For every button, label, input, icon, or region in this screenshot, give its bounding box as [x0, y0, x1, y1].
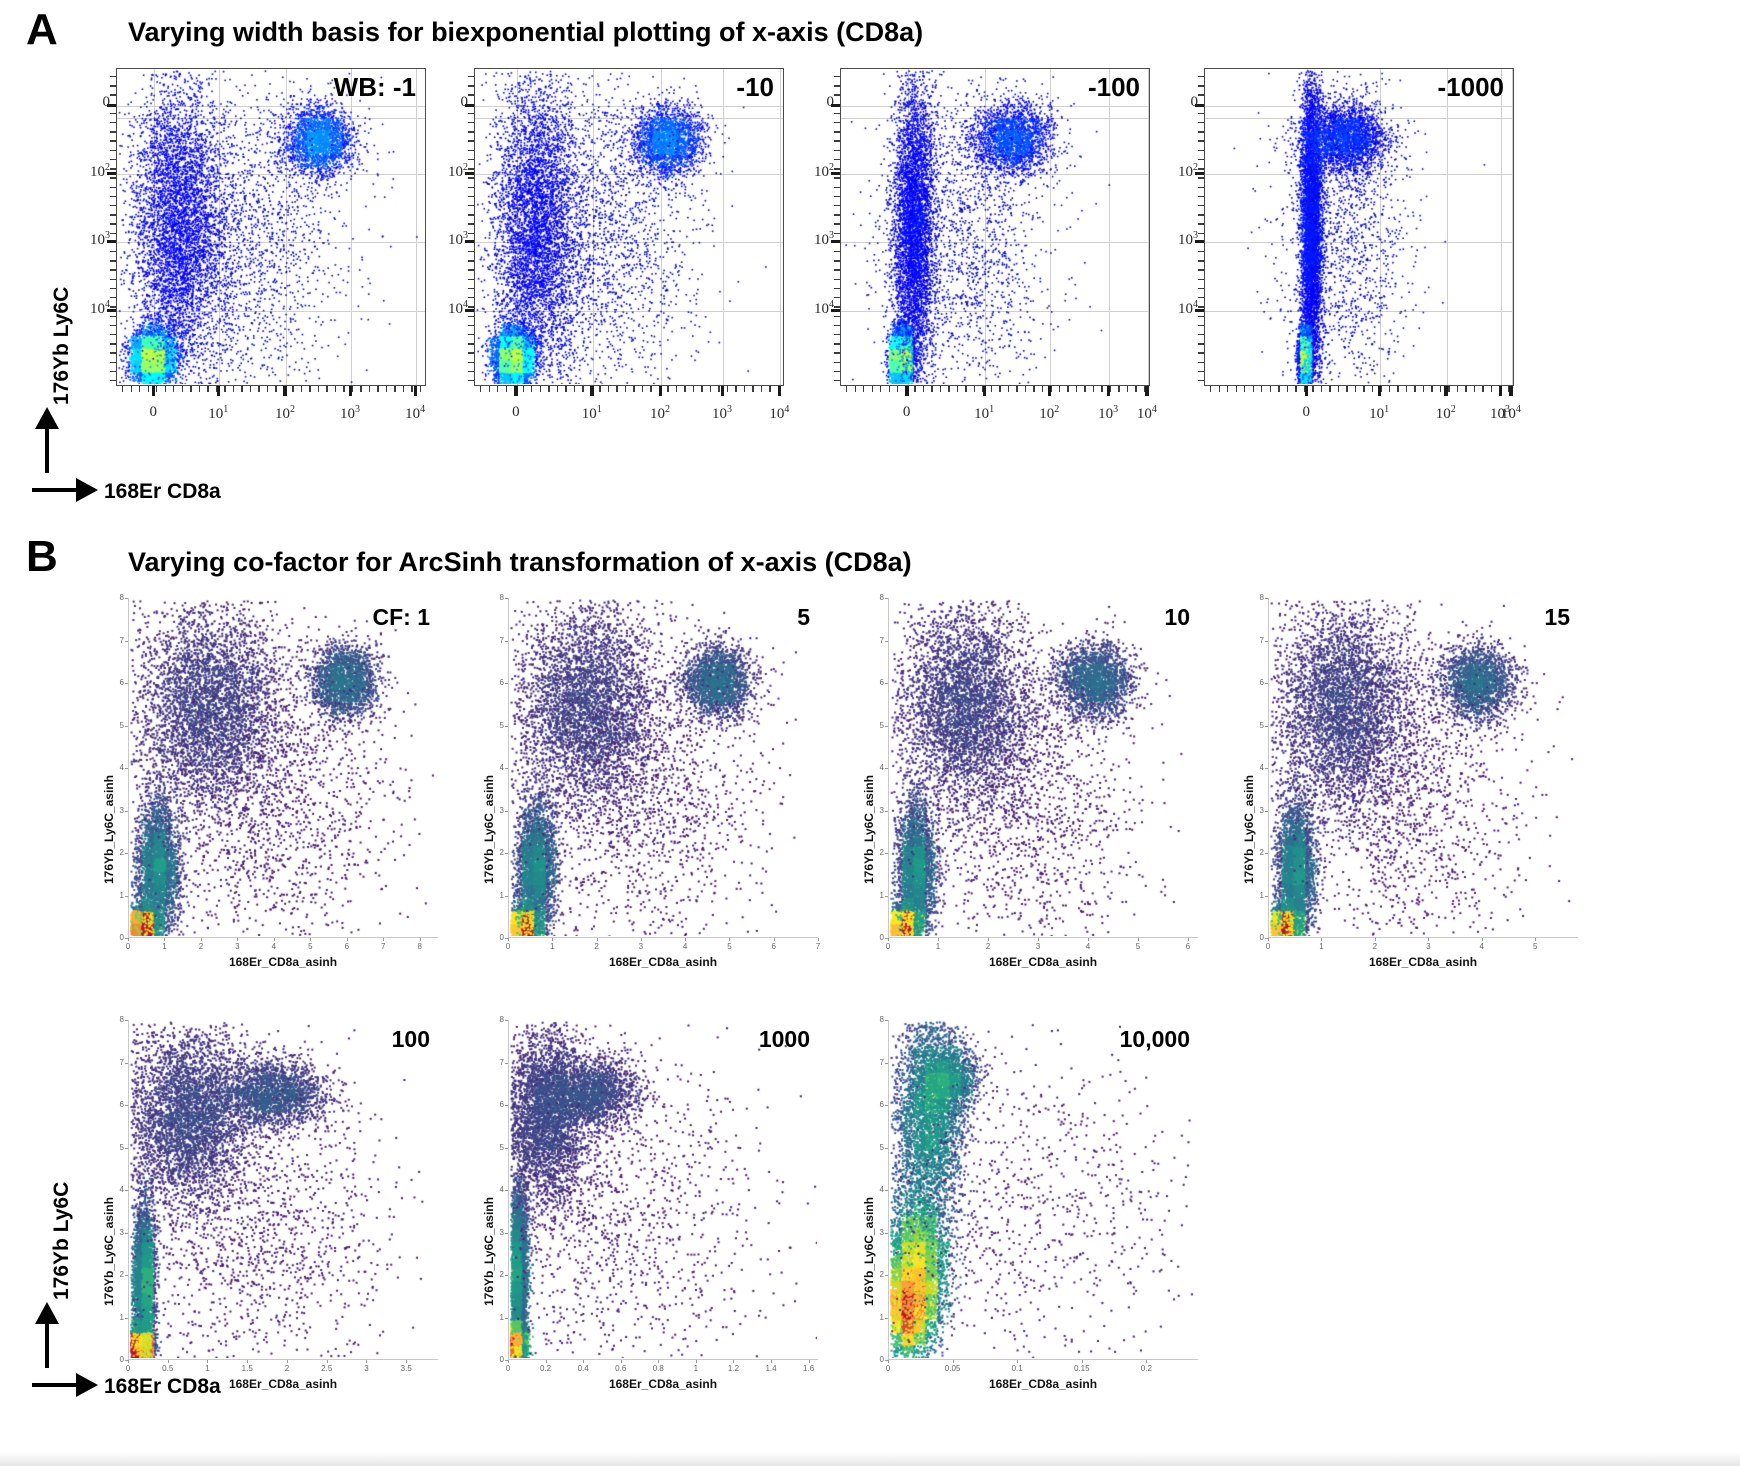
x-minor-tick	[1397, 386, 1398, 392]
x-minor-tick	[1118, 386, 1119, 392]
x-minor-tick	[1016, 386, 1017, 392]
x-tick-mark	[771, 1360, 772, 1363]
x-tick-mark	[938, 938, 939, 941]
x-tick-mark	[1145, 386, 1149, 396]
y-minor-tick	[1198, 177, 1204, 178]
y-tick-label: 5	[492, 721, 504, 730]
x-tick-mark	[1305, 386, 1309, 396]
x-minor-tick	[1482, 386, 1483, 392]
x-minor-tick	[352, 386, 353, 392]
y-tick-label: 0	[492, 933, 504, 942]
y-tick-label: 0	[1158, 94, 1198, 111]
x-axis-label: 168Er_CD8a_asinh	[1268, 955, 1578, 969]
x-minor-tick	[224, 386, 225, 392]
y-minor-tick	[1198, 279, 1204, 280]
x-minor-tick	[1033, 386, 1034, 392]
x-tick-label: 0.2	[1130, 1364, 1162, 1373]
y-tick-label: 103	[1158, 230, 1198, 249]
y-tick-mark	[125, 1020, 128, 1021]
x-tick-mark	[247, 1360, 248, 1363]
y-minor-tick	[834, 352, 840, 353]
panel-b-x-axis-label-bottom: 168Er CD8a	[104, 1375, 221, 1399]
x-minor-tick	[369, 386, 370, 392]
x-minor-tick	[1474, 386, 1475, 392]
panel-b-subplot-0: CF: 1	[128, 598, 438, 938]
plot-area	[116, 68, 426, 386]
y-minor-tick	[1198, 85, 1204, 86]
y-minor-tick	[834, 334, 840, 335]
y-minor-tick	[834, 122, 840, 123]
y-minor-tick	[110, 177, 116, 178]
x-minor-tick	[1431, 386, 1432, 392]
x-minor-tick	[659, 386, 660, 392]
y-minor-tick	[1198, 362, 1204, 363]
y-tick-label: 1	[492, 1313, 504, 1322]
y-tick-mark	[885, 1148, 888, 1149]
y-minor-tick	[468, 334, 474, 335]
y-minor-tick	[468, 306, 474, 307]
y-tick-label: 104	[70, 299, 110, 318]
y-tick-label: 5	[492, 1143, 504, 1152]
y-tick-mark	[125, 896, 128, 897]
x-tick-label: 2	[271, 1364, 303, 1373]
y-tick-mark	[107, 309, 116, 312]
scatter-canvas	[1205, 69, 1512, 384]
x-tick-mark	[1509, 386, 1513, 396]
x-tick-mark	[406, 1360, 407, 1363]
y-minor-tick	[834, 223, 840, 224]
y-tick-mark	[885, 683, 888, 684]
y-tick-label: 8	[492, 593, 504, 602]
y-tick-mark	[1265, 811, 1268, 812]
y-tick-label: 1	[872, 1313, 884, 1322]
x-minor-tick	[506, 386, 507, 392]
x-tick-mark	[168, 1360, 169, 1363]
y-minor-tick	[1198, 288, 1204, 289]
y-minor-tick	[834, 269, 840, 270]
x-tick-mark	[1082, 1360, 1083, 1363]
x-minor-tick	[1144, 386, 1145, 392]
y-tick-label: 7	[872, 636, 884, 645]
y-tick-mark	[505, 896, 508, 897]
x-tick-mark	[721, 386, 725, 396]
y-minor-tick	[1198, 242, 1204, 243]
y-minor-tick	[110, 343, 116, 344]
x-minor-tick	[1372, 386, 1373, 392]
y-minor-tick	[110, 380, 116, 381]
x-minor-tick	[1261, 386, 1262, 392]
y-tick-label: 8	[872, 593, 884, 602]
scatter-canvas	[509, 1020, 817, 1358]
y-minor-tick	[1198, 205, 1204, 206]
y-minor-tick	[468, 251, 474, 252]
y-minor-tick	[110, 352, 116, 353]
x-minor-tick	[591, 386, 592, 392]
x-tick-label: 4	[1072, 942, 1104, 951]
y-minor-tick	[110, 205, 116, 206]
y-minor-tick	[468, 159, 474, 160]
x-minor-tick	[761, 386, 762, 392]
y-minor-tick	[110, 269, 116, 270]
x-tick-mark	[774, 938, 775, 941]
y-minor-tick	[834, 177, 840, 178]
x-tick-mark	[621, 1360, 622, 1363]
subplot-corner-label: -10	[736, 72, 774, 103]
y-minor-tick	[834, 187, 840, 188]
subplot-corner-label: CF: 1	[373, 604, 431, 631]
y-minor-tick	[110, 196, 116, 197]
x-tick-label: 1.6	[793, 1364, 825, 1373]
x-tick-mark	[237, 938, 238, 941]
x-minor-tick	[872, 386, 873, 392]
y-minor-tick	[110, 297, 116, 298]
x-minor-tick	[233, 386, 234, 392]
x-tick-label: 4	[1466, 942, 1498, 951]
y-tick-label: 103	[70, 230, 110, 249]
y-tick-mark	[1195, 309, 1204, 312]
x-tick-mark	[414, 386, 418, 396]
y-tick-mark	[125, 726, 128, 727]
x-minor-tick	[1508, 386, 1509, 392]
x-tick-mark	[1375, 938, 1376, 941]
x-minor-tick	[1050, 386, 1051, 392]
y-minor-tick	[834, 279, 840, 280]
plot-area	[508, 598, 818, 938]
y-tick-label: 8	[872, 1015, 884, 1024]
x-tick-label: 2	[185, 942, 217, 951]
y-tick-mark	[125, 811, 128, 812]
x-minor-tick	[1253, 386, 1254, 392]
x-tick-mark	[217, 386, 221, 396]
y-minor-tick	[834, 371, 840, 372]
x-minor-tick	[1465, 386, 1466, 392]
y-tick-label: 104	[428, 299, 468, 318]
x-minor-tick	[880, 386, 881, 392]
y-minor-tick	[468, 352, 474, 353]
y-minor-tick	[834, 150, 840, 151]
x-minor-tick	[258, 386, 259, 392]
subplot-corner-label: 10,000	[1120, 1026, 1190, 1053]
y-tick-mark	[885, 1063, 888, 1064]
y-tick-label: 0	[1252, 933, 1264, 942]
x-tick-label: 103	[328, 404, 372, 423]
plot-area	[1204, 68, 1514, 386]
x-tick-label: 0.05	[937, 1364, 969, 1373]
x-tick-label: 0	[1252, 942, 1284, 951]
x-minor-tick	[667, 386, 668, 392]
y-minor-tick	[1198, 316, 1204, 317]
x-tick-mark	[888, 938, 889, 941]
y-tick-mark	[1265, 768, 1268, 769]
x-tick-mark	[641, 938, 642, 941]
x-minor-tick	[1135, 386, 1136, 392]
y-tick-label: 104	[794, 299, 834, 318]
x-tick-label: 0	[885, 404, 929, 421]
x-tick-label: 0	[131, 404, 175, 421]
y-tick-label: 0	[428, 94, 468, 111]
y-tick-label: 1	[492, 891, 504, 900]
x-tick-mark	[128, 938, 129, 941]
x-tick-mark	[310, 938, 311, 941]
y-minor-tick	[110, 242, 116, 243]
scatter-canvas	[129, 598, 437, 936]
y-axis-label: 176Yb_Ly6C_asinh	[862, 775, 876, 884]
y-minor-tick	[1198, 159, 1204, 160]
page-bottom-shadow	[0, 1452, 1740, 1466]
scatter-canvas	[889, 1020, 1197, 1358]
x-minor-tick	[897, 386, 898, 392]
y-minor-tick	[110, 306, 116, 307]
x-minor-tick	[565, 386, 566, 392]
x-tick-label: 2	[581, 942, 613, 951]
y-minor-tick	[1198, 113, 1204, 114]
x-minor-tick	[1448, 386, 1449, 392]
y-tick-label: 6	[872, 1100, 884, 1109]
x-tick-label: 5	[294, 942, 326, 951]
y-tick-mark	[125, 853, 128, 854]
y-tick-mark	[505, 641, 508, 642]
x-minor-tick	[173, 386, 174, 392]
y-minor-tick	[1198, 187, 1204, 188]
subplot-corner-label: 1000	[759, 1026, 810, 1053]
y-tick-label: 0	[794, 94, 834, 111]
x-minor-tick	[1406, 386, 1407, 392]
y-tick-mark	[1265, 598, 1268, 599]
x-minor-tick	[1321, 386, 1322, 392]
x-minor-tick	[557, 386, 558, 392]
y-tick-label: 8	[112, 1015, 124, 1024]
y-tick-label: 4	[112, 763, 124, 772]
panel-a-subplot-0: WB: -1	[116, 68, 426, 386]
y-tick-label: 1	[872, 891, 884, 900]
x-minor-tick	[377, 386, 378, 392]
y-minor-tick	[834, 140, 840, 141]
y-tick-label: 4	[492, 763, 504, 772]
y-tick-mark	[125, 1105, 128, 1106]
x-minor-tick	[1423, 386, 1424, 392]
y-minor-tick	[468, 150, 474, 151]
y-tick-mark	[505, 683, 508, 684]
y-minor-tick	[1198, 260, 1204, 261]
subplot-corner-label: -1000	[1438, 72, 1505, 103]
y-tick-mark	[885, 853, 888, 854]
y-tick-label: 104	[1158, 299, 1198, 318]
y-tick-label: 6	[872, 678, 884, 687]
x-minor-tick	[1414, 386, 1415, 392]
y-tick-mark	[125, 683, 128, 684]
y-minor-tick	[834, 343, 840, 344]
x-tick-mark	[152, 386, 156, 396]
y-minor-tick	[834, 159, 840, 160]
x-minor-tick	[608, 386, 609, 392]
subplot-corner-label: 10	[1164, 604, 1190, 631]
x-minor-tick	[497, 386, 498, 392]
x-tick-label: 104	[1489, 404, 1533, 423]
x-minor-tick	[131, 386, 132, 392]
x-axis-label: 168Er_CD8a_asinh	[128, 955, 438, 969]
panel-b-subplot-5: 1000	[508, 1020, 818, 1360]
y-minor-tick	[1198, 196, 1204, 197]
x-tick-label: 101	[570, 404, 614, 423]
x-tick-label: 1	[148, 942, 180, 951]
x-tick-label: 0.4	[567, 1364, 599, 1373]
x-minor-tick	[957, 386, 958, 392]
panel-b-subplot-3: 15	[1268, 598, 1578, 938]
y-tick-label: 8	[112, 593, 124, 602]
y-tick-mark	[125, 768, 128, 769]
y-tick-mark	[885, 1233, 888, 1234]
x-minor-tick	[182, 386, 183, 392]
y-tick-mark	[125, 1190, 128, 1191]
x-tick-label: 5	[1519, 942, 1551, 951]
y-tick-label: 102	[1158, 162, 1198, 181]
y-tick-label: 4	[872, 1185, 884, 1194]
x-tick-mark	[888, 1360, 889, 1363]
x-minor-tick	[1295, 386, 1296, 392]
x-tick-label: 103	[700, 404, 744, 423]
y-tick-label: 103	[794, 230, 834, 249]
y-minor-tick	[468, 371, 474, 372]
y-tick-label: 5	[112, 1143, 124, 1152]
x-tick-label: 0	[872, 942, 904, 951]
x-minor-tick	[1440, 386, 1441, 392]
x-tick-label: 2	[972, 942, 1004, 951]
x-minor-tick	[241, 386, 242, 392]
x-tick-label: 4	[669, 942, 701, 951]
x-tick-label: 101	[962, 404, 1006, 423]
x-minor-tick	[548, 386, 549, 392]
x-tick-mark	[1535, 938, 1536, 941]
x-minor-tick	[769, 386, 770, 392]
y-minor-tick	[468, 362, 474, 363]
y-tick-mark	[885, 1020, 888, 1021]
x-minor-tick	[914, 386, 915, 392]
y-minor-tick	[1198, 371, 1204, 372]
y-tick-label: 6	[492, 1100, 504, 1109]
panel-b-title: Varying co-factor for ArcSinh transforma…	[128, 547, 912, 578]
x-minor-tick	[1076, 386, 1077, 392]
x-minor-tick	[931, 386, 932, 392]
y-tick-mark	[107, 172, 116, 175]
y-minor-tick	[468, 177, 474, 178]
x-tick-label: 101	[1357, 404, 1401, 423]
x-tick-label: 3	[221, 942, 253, 951]
y-minor-tick	[468, 214, 474, 215]
x-minor-tick	[480, 386, 481, 392]
panel-b-y-axis-label: 176Yb Ly6C	[50, 1182, 74, 1300]
panel-b-letter: B	[26, 535, 58, 579]
y-tick-mark	[1265, 853, 1268, 854]
x-minor-tick	[122, 386, 123, 392]
y-minor-tick	[110, 104, 116, 105]
x-tick-label: 7	[802, 942, 834, 951]
y-tick-label: 7	[112, 636, 124, 645]
y-minor-tick	[110, 233, 116, 234]
x-minor-tick	[148, 386, 149, 392]
subplot-corner-label: WB: -1	[334, 72, 416, 103]
x-minor-tick	[846, 386, 847, 392]
y-tick-label: 4	[1252, 763, 1264, 772]
x-minor-tick	[1312, 386, 1313, 392]
y-minor-tick	[1198, 76, 1204, 77]
x-minor-tick	[531, 386, 532, 392]
y-minor-tick	[468, 223, 474, 224]
x-minor-tick	[1244, 386, 1245, 392]
x-tick-label: 101	[196, 404, 240, 423]
x-tick-mark	[420, 938, 421, 941]
y-minor-tick	[468, 168, 474, 169]
x-minor-tick	[301, 386, 302, 392]
y-minor-tick	[834, 104, 840, 105]
y-minor-tick	[834, 306, 840, 307]
x-minor-tick	[216, 386, 217, 392]
y-tick-mark	[885, 1190, 888, 1191]
x-tick-label: 0	[494, 404, 538, 421]
x-tick-label: 2.5	[311, 1364, 343, 1373]
x-minor-tick	[284, 386, 285, 392]
y-tick-label: 0	[70, 94, 110, 111]
y-tick-mark	[505, 811, 508, 812]
y-minor-tick	[468, 242, 474, 243]
y-tick-label: 8	[492, 1015, 504, 1024]
x-minor-tick	[1059, 386, 1060, 392]
x-tick-mark	[685, 938, 686, 941]
x-minor-tick	[411, 386, 412, 392]
x-minor-tick	[778, 386, 779, 392]
x-minor-tick	[309, 386, 310, 392]
y-minor-tick	[834, 380, 840, 381]
y-minor-tick	[834, 85, 840, 86]
x-minor-tick	[863, 386, 864, 392]
x-minor-tick	[1084, 386, 1085, 392]
y-tick-mark	[505, 598, 508, 599]
plot-area	[128, 1020, 438, 1360]
y-minor-tick	[110, 187, 116, 188]
y-minor-tick	[110, 362, 116, 363]
panel-b-x-axis-arrow	[30, 1368, 100, 1402]
y-minor-tick	[834, 297, 840, 298]
x-minor-tick	[1380, 386, 1381, 392]
y-tick-label: 5	[872, 1143, 884, 1152]
x-minor-tick	[267, 386, 268, 392]
y-minor-tick	[1198, 306, 1204, 307]
y-minor-tick	[110, 168, 116, 169]
x-tick-label: 0.6	[605, 1364, 637, 1373]
y-axis-label: 176Yb_Ly6C_asinh	[482, 1197, 496, 1306]
panel-b-subplot-4: 100	[128, 1020, 438, 1360]
x-minor-tick	[292, 386, 293, 392]
y-tick-label: 6	[112, 1100, 124, 1109]
x-minor-tick	[906, 386, 907, 392]
x-tick-mark	[1444, 386, 1448, 396]
y-tick-mark	[125, 1063, 128, 1064]
y-tick-label: 6	[112, 678, 124, 687]
x-tick-label: 102	[1424, 404, 1468, 423]
x-tick-mark	[597, 938, 598, 941]
x-tick-mark	[696, 1360, 697, 1363]
x-minor-tick	[275, 386, 276, 392]
x-minor-tick	[250, 386, 251, 392]
x-tick-mark	[128, 1360, 129, 1363]
x-axis-label: 168Er_CD8a_asinh	[508, 1377, 818, 1391]
y-tick-mark	[1265, 641, 1268, 642]
y-tick-mark	[505, 1105, 508, 1106]
x-tick-label: 0.8	[642, 1364, 674, 1373]
x-tick-label: 0	[492, 1364, 524, 1373]
x-minor-tick	[1363, 386, 1364, 392]
y-minor-tick	[1198, 104, 1204, 105]
y-minor-tick	[834, 251, 840, 252]
